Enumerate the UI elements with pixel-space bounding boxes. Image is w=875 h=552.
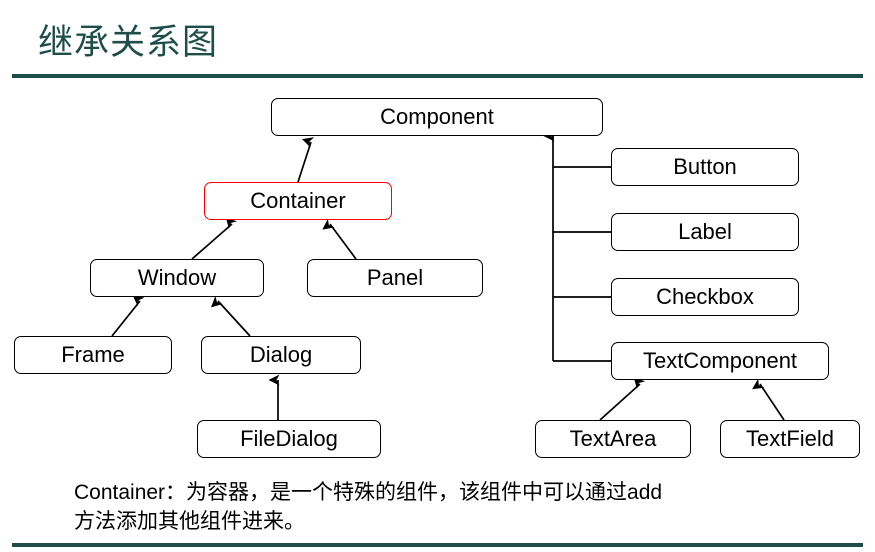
node-checkbox[interactable]: Checkbox — [611, 278, 799, 316]
node-textfield[interactable]: TextField — [720, 420, 860, 458]
node-filedialog[interactable]: FileDialog — [197, 420, 381, 458]
node-textarea[interactable]: TextArea — [535, 420, 691, 458]
node-button[interactable]: Button — [611, 148, 799, 186]
node-window[interactable]: Window — [90, 259, 264, 297]
node-textcomponent[interactable]: TextComponent — [611, 342, 829, 380]
slide-canvas: 继承关系图 — [0, 0, 875, 552]
node-container[interactable]: Container — [204, 182, 392, 220]
node-component[interactable]: Component — [271, 98, 603, 136]
node-panel[interactable]: Panel — [307, 259, 483, 297]
node-frame[interactable]: Frame — [14, 336, 172, 374]
node-dialog[interactable]: Dialog — [201, 336, 361, 374]
node-label[interactable]: Label — [611, 213, 799, 251]
